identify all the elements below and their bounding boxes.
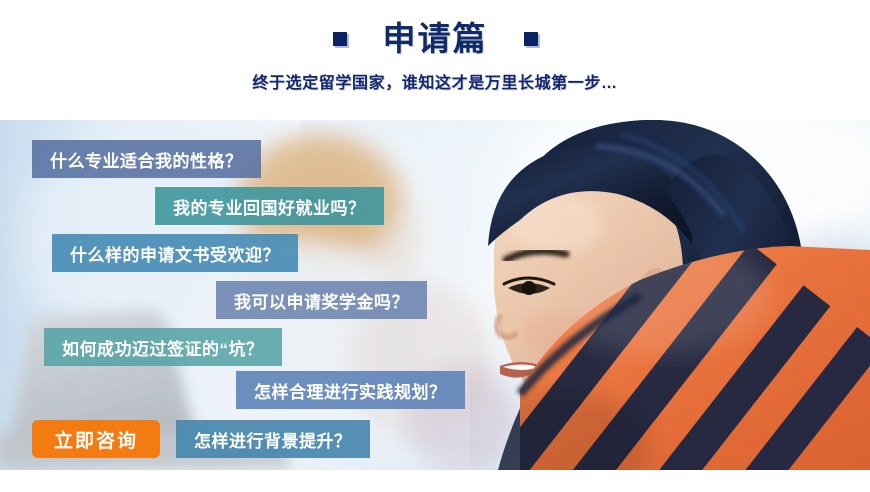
question-bubble-4-label: 我可以申请奖学金吗？ xyxy=(234,288,409,313)
question-bubble-5[interactable]: 如何成功迈过签证的“坑？ xyxy=(44,328,282,366)
square-marker-right-icon xyxy=(524,32,538,46)
question-bubble-1[interactable]: 什么专业适合我的性格？ xyxy=(32,140,261,178)
page-title: 申请篇 xyxy=(383,19,488,59)
question-bubble-1-label: 什么专业适合我的性格？ xyxy=(50,147,243,172)
question-bubble-7-label: 怎样进行背景提升？ xyxy=(194,427,352,452)
square-marker-left-icon xyxy=(333,32,347,46)
question-bubble-3[interactable]: 什么样的申请文书受欢迎？ xyxy=(52,234,298,272)
consult-now-button[interactable]: 立即咨询 xyxy=(32,420,160,458)
title-row: 申请篇 xyxy=(0,19,870,59)
question-bubble-2[interactable]: 我的专业回国好就业吗？ xyxy=(155,187,384,225)
question-bubble-6-label: 怎样合理进行实践规划？ xyxy=(254,378,447,403)
question-bubble-2-label: 我的专业回国好就业吗？ xyxy=(173,194,366,219)
consult-now-button-label: 立即咨询 xyxy=(54,426,138,453)
banner-header: 申请篇 终于选定留学国家，谁知这才是万里长城第一步… xyxy=(0,0,870,120)
question-bubble-5-label: 如何成功迈过签证的“坑？ xyxy=(62,335,264,360)
promo-banner: 申请篇 终于选定留学国家，谁知这才是万里长城第一步… xyxy=(0,0,870,492)
question-bubble-6[interactable]: 怎样合理进行实践规划？ xyxy=(236,371,465,409)
footer-strip xyxy=(0,470,870,492)
question-bubble-4[interactable]: 我可以申请奖学金吗？ xyxy=(216,281,427,319)
question-bubble-3-label: 什么样的申请文书受欢迎？ xyxy=(70,241,280,266)
question-bubble-7[interactable]: 怎样进行背景提升？ xyxy=(176,420,370,458)
page-subtitle: 终于选定留学国家，谁知这才是万里长城第一步… xyxy=(0,69,870,93)
